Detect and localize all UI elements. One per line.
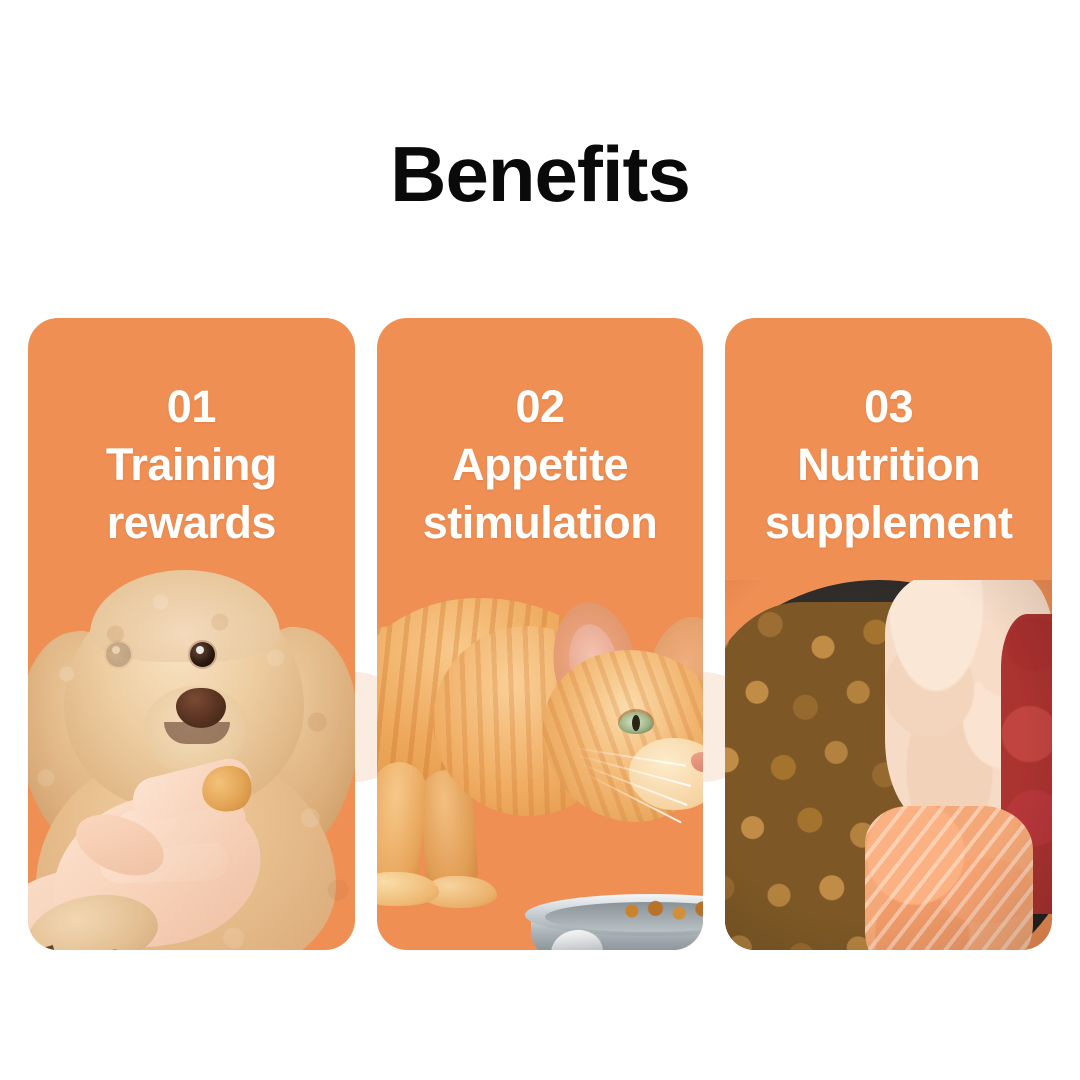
card-label-3: Nutrition supplement [731,436,1046,552]
dog-paw-pad [28,885,163,950]
cat-eye [619,712,653,734]
page-title: Benefits [0,132,1080,216]
card-number-1: 01 [34,378,349,436]
steel-food-bowl [525,894,704,950]
benefit-card-training-rewards[interactable]: 01 Training rewards [28,318,355,950]
benefit-cards-row: 01 Training rewards [28,318,1052,950]
kibble-in-bowl [617,898,704,924]
dog-eye-left [106,642,131,667]
card-label-2: Appetite stimulation [383,436,698,552]
card-label-1: Training rewards [34,436,349,552]
dog-eye-right [190,642,215,667]
benefit-card-appetite-stimulation[interactable]: 02 Appetite stimulation [377,318,704,950]
benefits-infographic: Benefits [0,0,1080,1080]
benefit-card-nutrition-supplement[interactable]: 03 Nutrition supplement [725,318,1052,950]
card-number-3: 03 [731,378,1046,436]
card-number-2: 02 [383,378,698,436]
card-heading-3: 03 Nutrition supplement [725,318,1052,552]
dog-paw [28,884,170,950]
card-heading-2: 02 Appetite stimulation [377,318,704,552]
food-bowl-illustration [725,580,1052,950]
card-heading-1: 01 Training rewards [28,318,355,552]
raw-salmon-pieces [865,806,1033,950]
